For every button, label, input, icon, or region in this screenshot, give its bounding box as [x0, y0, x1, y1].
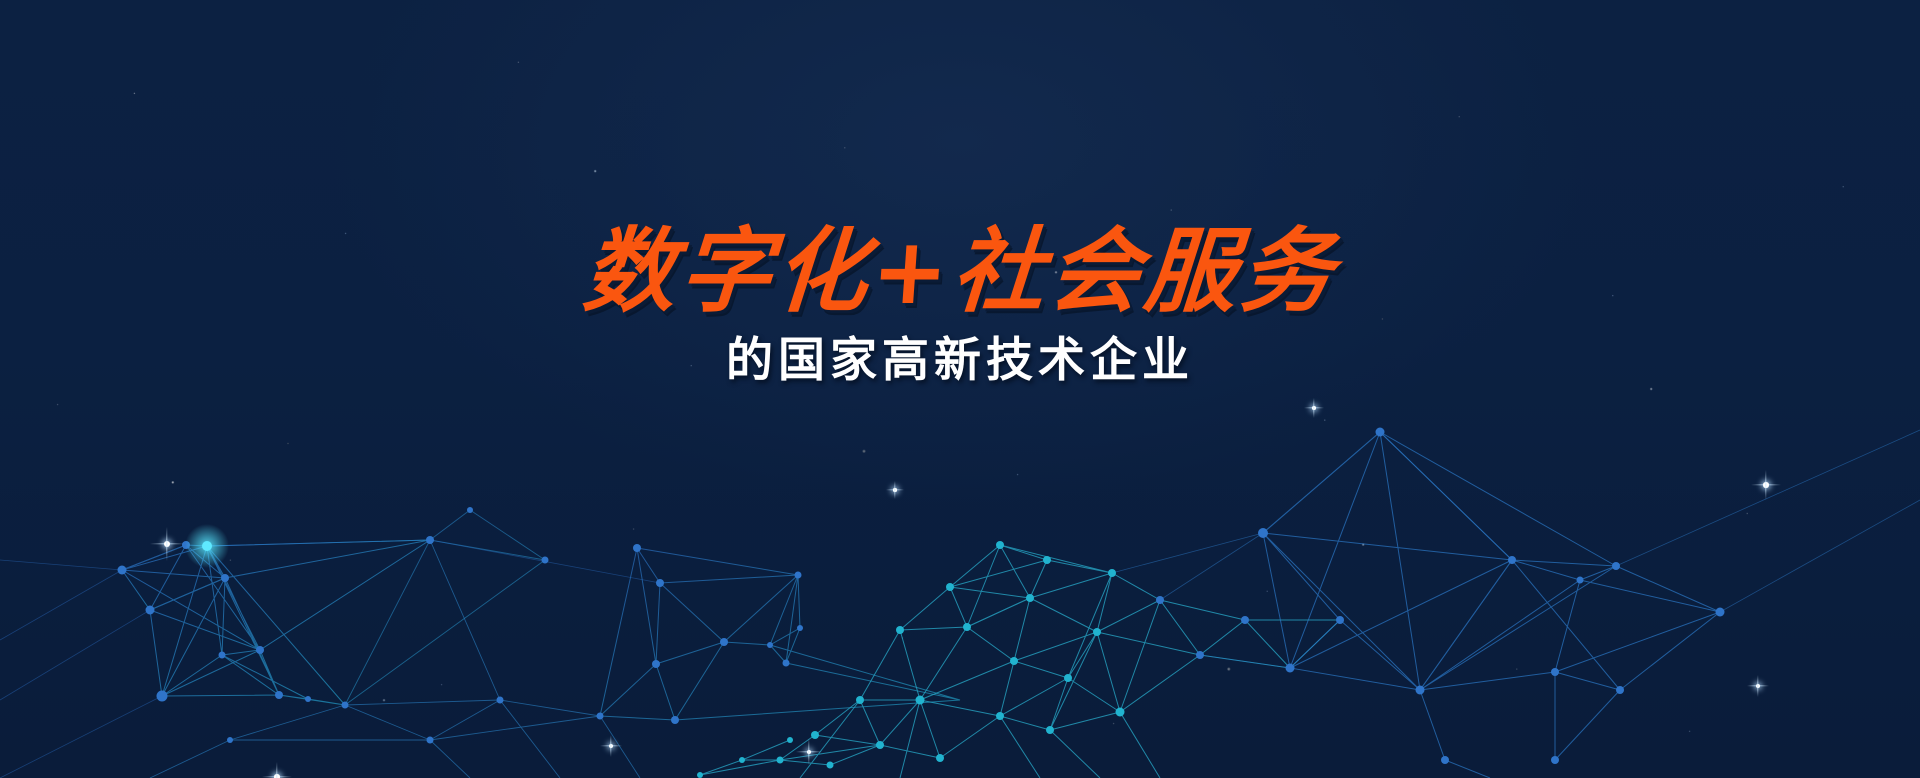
network-mesh-graphic: [0, 0, 1920, 778]
hero-banner: 数字化+社会服务 的国家高新技术企业: [0, 0, 1920, 778]
page-title: 数字化+社会服务: [0, 222, 1920, 321]
page-subtitle: 的国家高新技术企业: [0, 335, 1920, 387]
banner-text-block: 数字化+社会服务 的国家高新技术企业: [0, 222, 1920, 387]
